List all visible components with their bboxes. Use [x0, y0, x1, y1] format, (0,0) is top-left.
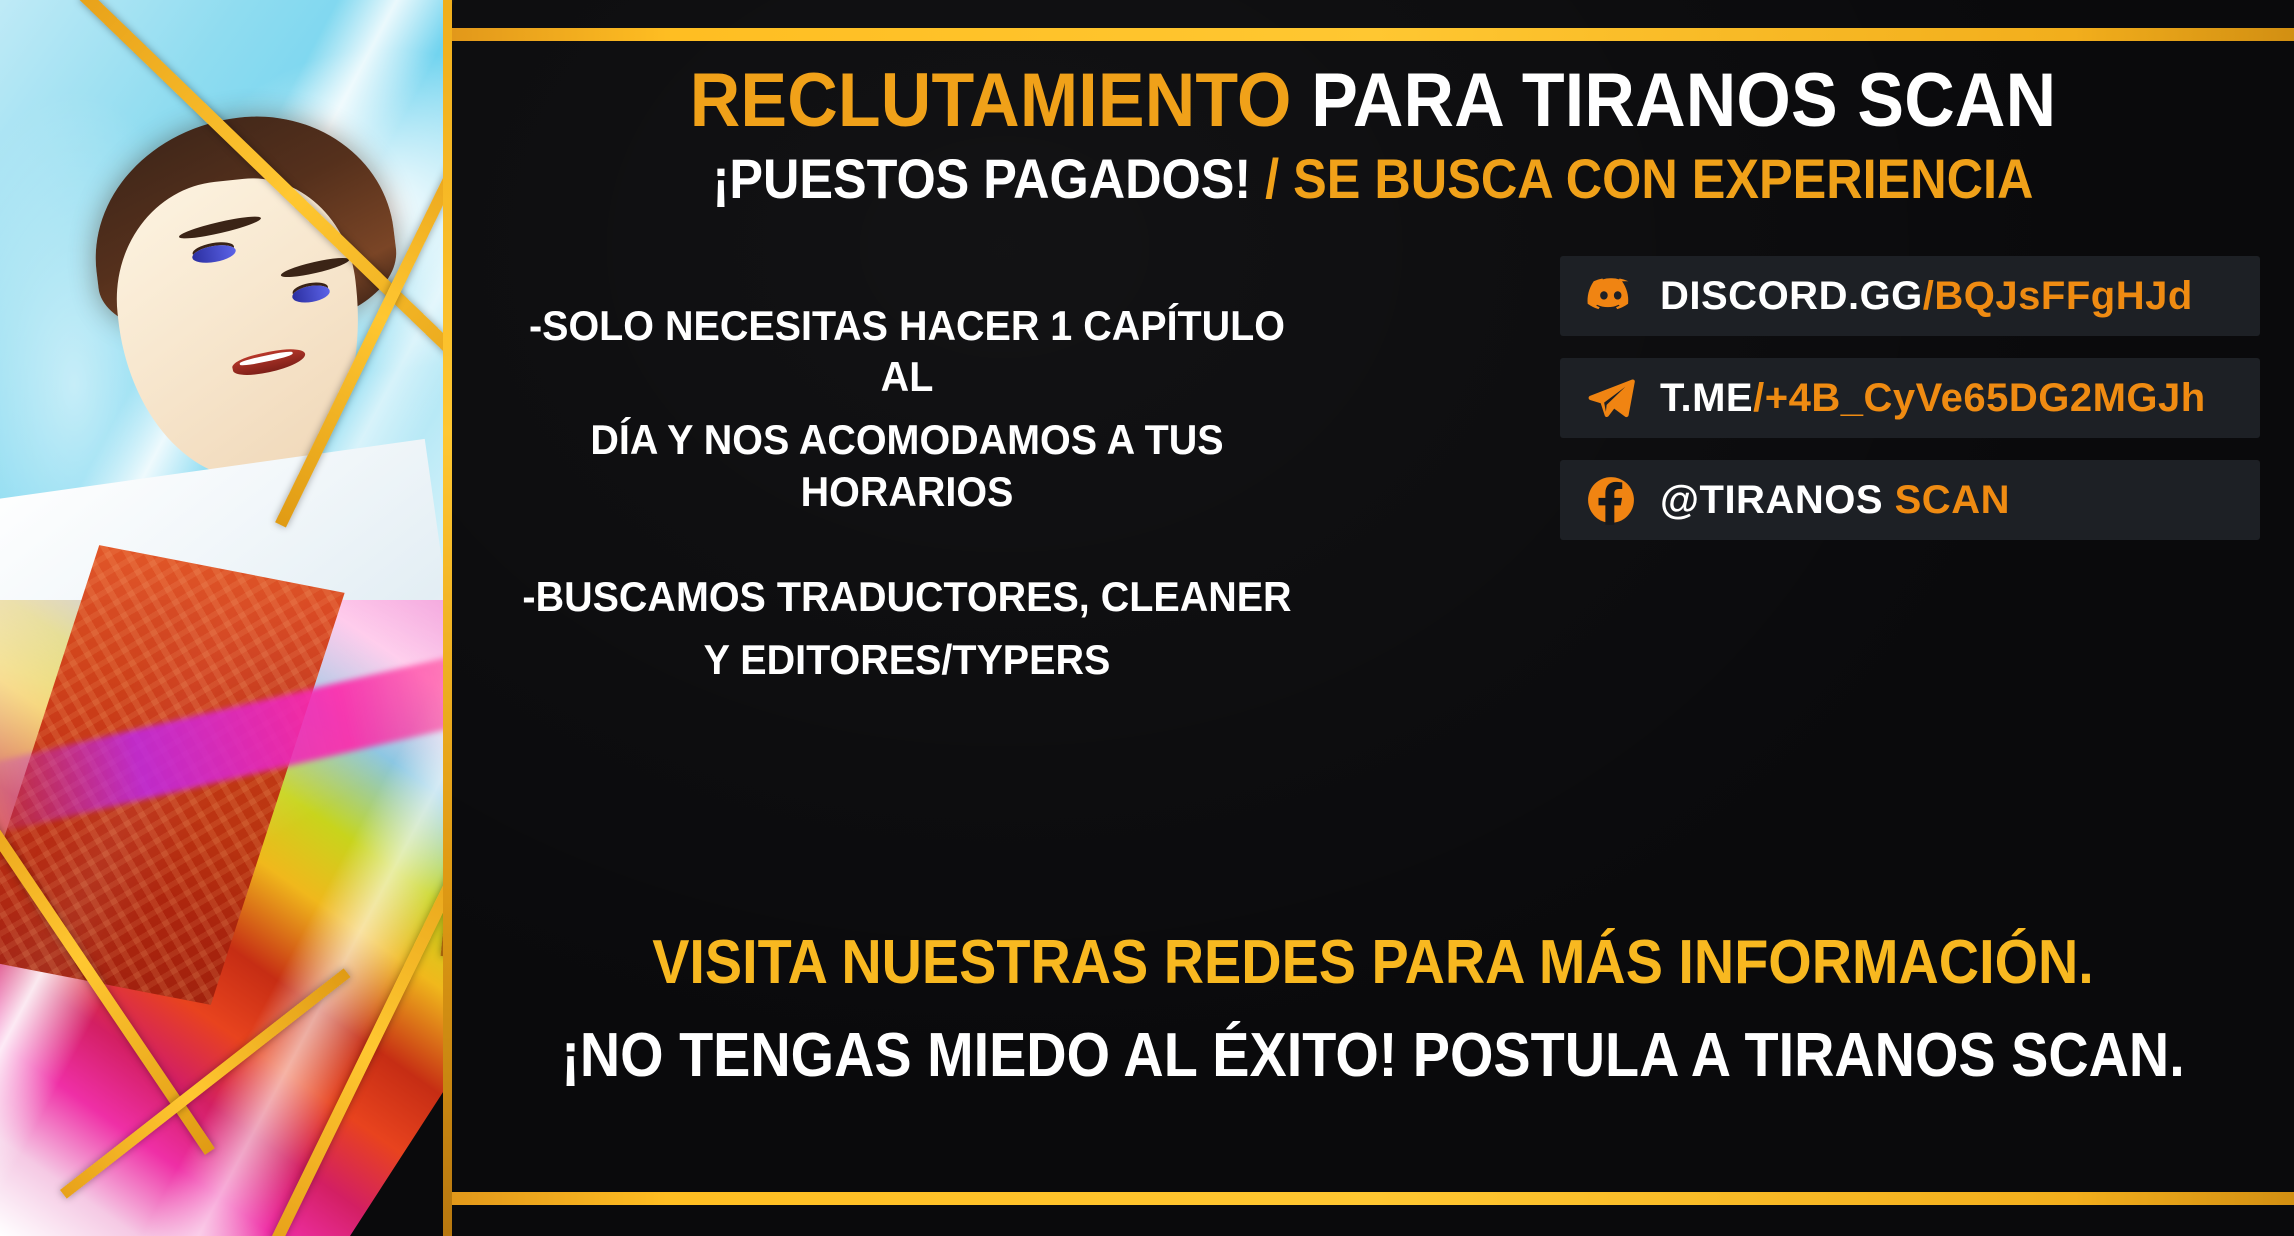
bullet-line-4: Y EDITORES/TYPERS — [517, 634, 1297, 685]
discord-domain: DISCORD.GG — [1660, 274, 1923, 318]
recruitment-banner: RECLUTAMIENTO PARA TIRANOS SCAN ¡PUESTOS… — [0, 0, 2294, 1236]
subheadline-white: ¡PUESTOS PAGADOS! — [713, 147, 1252, 210]
bullet-list: -SOLO NECESITAS HACER 1 CAPÍTULO AL DÍA … — [517, 300, 1297, 697]
bullet-spacer — [517, 529, 1297, 571]
gold-vertical-rule — [443, 0, 452, 1236]
discord-invite-code: /BQJsFFgHJd — [1923, 274, 2193, 318]
contact-label-telegram: T.ME/+4B_CyVe65DG2MGJh — [1660, 376, 2206, 421]
contact-card-list: DISCORD.GG/BQJsFFgHJd T.ME/+4B_CyVe65DG2… — [1560, 256, 2260, 540]
telegram-invite-code: /+4B_CyVe65DG2MGJh — [1753, 376, 2206, 420]
content-panel: RECLUTAMIENTO PARA TIRANOS SCAN ¡PUESTOS… — [452, 0, 2294, 1236]
telegram-icon — [1586, 373, 1636, 423]
telegram-domain: T.ME — [1660, 376, 1753, 420]
gold-rule-top — [452, 28, 2294, 41]
headline: RECLUTAMIENTO PARA TIRANOS SCAN — [526, 62, 2221, 140]
call-to-action: VISITA NUESTRAS REDES PARA MÁS INFORMACI… — [452, 930, 2294, 1090]
headline-rest: PARA TIRANOS SCAN — [1292, 58, 2057, 143]
facebook-icon — [1586, 475, 1636, 525]
contact-label-facebook: @TIRANOS SCAN — [1660, 478, 2010, 523]
bullet-line-2: DÍA Y NOS ACOMODAMOS A TUS HORARIOS — [517, 414, 1297, 516]
facebook-handle: @TIRANOS — [1660, 478, 1883, 522]
gold-rule-bottom — [452, 1192, 2294, 1205]
contact-label-discord: DISCORD.GG/BQJsFFgHJd — [1660, 274, 2193, 319]
facebook-handle-accent: SCAN — [1883, 478, 2010, 522]
contact-card-telegram[interactable]: T.ME/+4B_CyVe65DG2MGJh — [1560, 358, 2260, 438]
bullet-line-3: -BUSCAMOS TRADUCTORES, CLEANER — [517, 571, 1297, 622]
headline-accent: RECLUTAMIENTO — [690, 58, 1292, 143]
contact-card-facebook[interactable]: @TIRANOS SCAN — [1560, 460, 2260, 540]
discord-icon — [1586, 271, 1636, 321]
bullet-line-1: -SOLO NECESITAS HACER 1 CAPÍTULO AL — [517, 300, 1297, 402]
subheadline: ¡PUESTOS PAGADOS! / SE BUSCA CON EXPERIE… — [544, 150, 2202, 209]
contact-card-discord[interactable]: DISCORD.GG/BQJsFFgHJd — [1560, 256, 2260, 336]
subheadline-orange: / SE BUSCA CON EXPERIENCIA — [1251, 147, 2033, 210]
cta-line-2: ¡NO TENGAS MIEDO AL ÉXITO! POSTULA A TIR… — [544, 1023, 2202, 1090]
cta-line-1: VISITA NUESTRAS REDES PARA MÁS INFORMACI… — [544, 930, 2202, 997]
